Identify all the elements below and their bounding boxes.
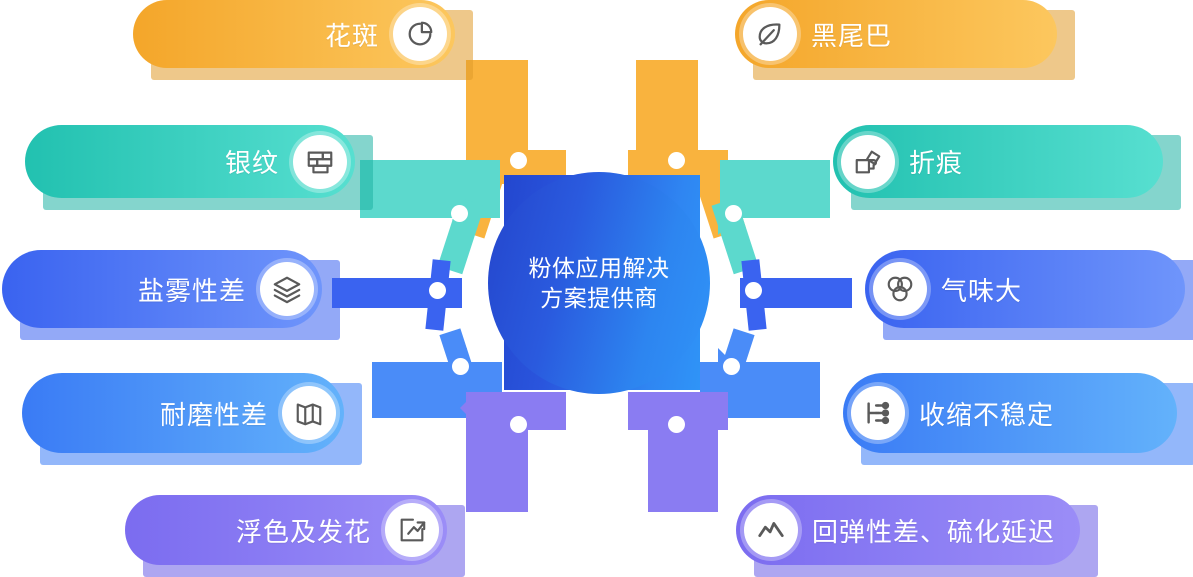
card-body[interactable]: 花斑: [133, 0, 455, 68]
card-body[interactable]: 回弹性差、硫化延迟: [736, 495, 1080, 565]
puzzle-piece-icon: [841, 135, 895, 189]
connector-left-1-dot: [510, 152, 527, 169]
brick-wall-icon: [293, 135, 347, 189]
trending-up-icon: [385, 503, 439, 557]
card-body[interactable]: 耐磨性差: [22, 373, 344, 453]
connector-right-1-dot: [668, 152, 685, 169]
item-card-left-1[interactable]: 花斑: [133, 0, 473, 80]
connector-left-5-dot: [510, 416, 527, 433]
item-card-left-5[interactable]: 浮色及发花: [125, 495, 465, 577]
connector-left-2-dot: [451, 205, 468, 222]
card-body[interactable]: 黑尾巴: [735, 0, 1057, 68]
card-body[interactable]: 收缩不稳定: [843, 373, 1177, 453]
pie-chart-icon: [393, 7, 447, 61]
item-label: 气味大: [941, 271, 1022, 308]
item-card-right-1[interactable]: 黑尾巴: [735, 0, 1075, 80]
recycle-icon: [873, 262, 927, 316]
item-label: 浮色及发花: [236, 512, 371, 549]
item-label: 折痕: [909, 143, 963, 180]
item-label: 耐磨性差: [160, 395, 268, 432]
sitemap-icon: [851, 386, 905, 440]
item-card-left-3[interactable]: 盐雾性差: [2, 250, 340, 340]
item-card-left-2[interactable]: 银纹: [25, 125, 373, 210]
line-chart-icon: [744, 503, 798, 557]
layers-icon: [260, 262, 314, 316]
connector-right-3-dot: [745, 282, 762, 299]
connector-right-2-dot: [725, 205, 742, 222]
item-card-left-4[interactable]: 耐磨性差: [22, 373, 362, 465]
open-book-icon: [282, 386, 336, 440]
card-body[interactable]: 浮色及发花: [125, 495, 447, 565]
leaf-icon: [743, 7, 797, 61]
center-node[interactable]: 粉体应用解决 方案提供商: [488, 172, 710, 394]
item-card-right-5[interactable]: 回弹性差、硫化延迟: [736, 495, 1098, 577]
connector-right-1-head: [698, 150, 714, 182]
center-label: 粉体应用解决 方案提供商: [529, 253, 670, 314]
item-label: 盐雾性差: [138, 271, 246, 308]
connector-right-4-dot: [723, 358, 740, 375]
card-body[interactable]: 盐雾性差: [2, 250, 322, 328]
card-body[interactable]: 气味大: [865, 250, 1185, 328]
item-label: 黑尾巴: [811, 16, 892, 53]
item-card-right-4[interactable]: 收缩不稳定: [843, 373, 1193, 465]
item-label: 花斑: [325, 16, 379, 53]
item-label: 银纹: [225, 143, 279, 180]
card-body[interactable]: 折痕: [833, 125, 1163, 198]
item-card-right-3[interactable]: 气味大: [865, 250, 1193, 340]
connector-left-3-dot: [429, 282, 446, 299]
connector-right-5-head: [702, 392, 718, 424]
card-body[interactable]: 银纹: [25, 125, 355, 198]
infographic-canvas: 粉体应用解决 方案提供商 花斑银纹盐雾性差耐磨性差浮色及发花 黑尾巴折痕气味大收…: [0, 0, 1193, 577]
connector-left-4-dot: [452, 358, 469, 375]
item-label: 收缩不稳定: [919, 395, 1054, 432]
connector-right-5-dot: [668, 416, 685, 433]
item-label: 回弹性差、硫化延迟: [812, 512, 1055, 549]
item-card-right-2[interactable]: 折痕: [833, 125, 1181, 210]
connector-left-5-head: [460, 392, 476, 424]
